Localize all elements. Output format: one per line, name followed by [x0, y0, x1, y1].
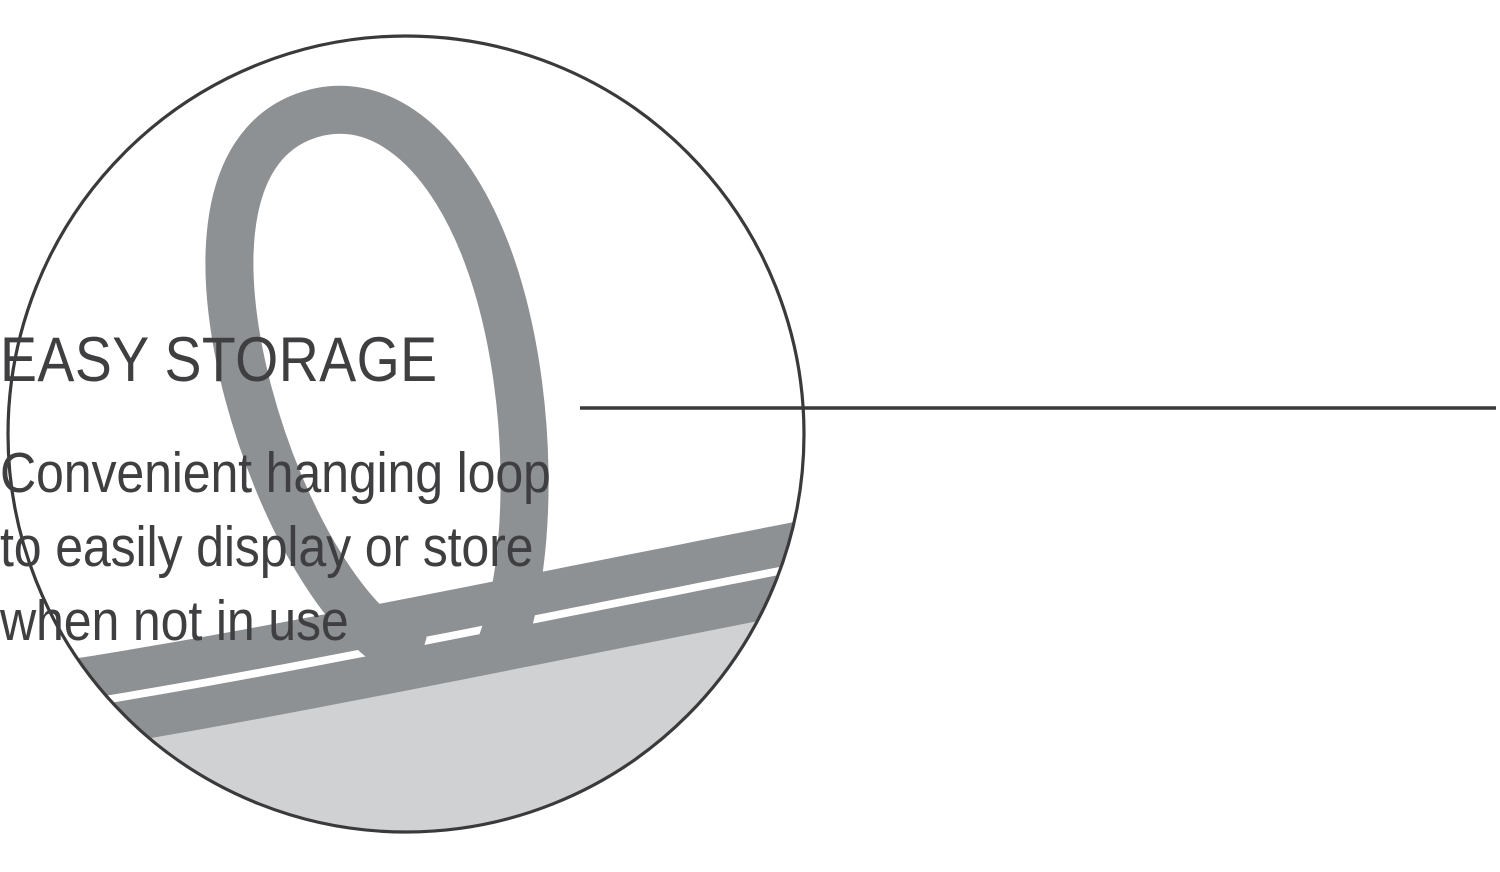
callout-description-line-3: when not in use — [0, 589, 349, 653]
feature-callout-illustration: EASY STORAGE Convenient hanging loop to … — [0, 0, 1500, 872]
callout-title: EASY STORAGE — [0, 324, 438, 395]
callout-description-line-1: Convenient hanging loop — [0, 441, 551, 505]
callout-canvas: EASY STORAGE Convenient hanging loop to … — [0, 0, 1500, 872]
callout-description-line-2: to easily display or store — [0, 515, 533, 579]
